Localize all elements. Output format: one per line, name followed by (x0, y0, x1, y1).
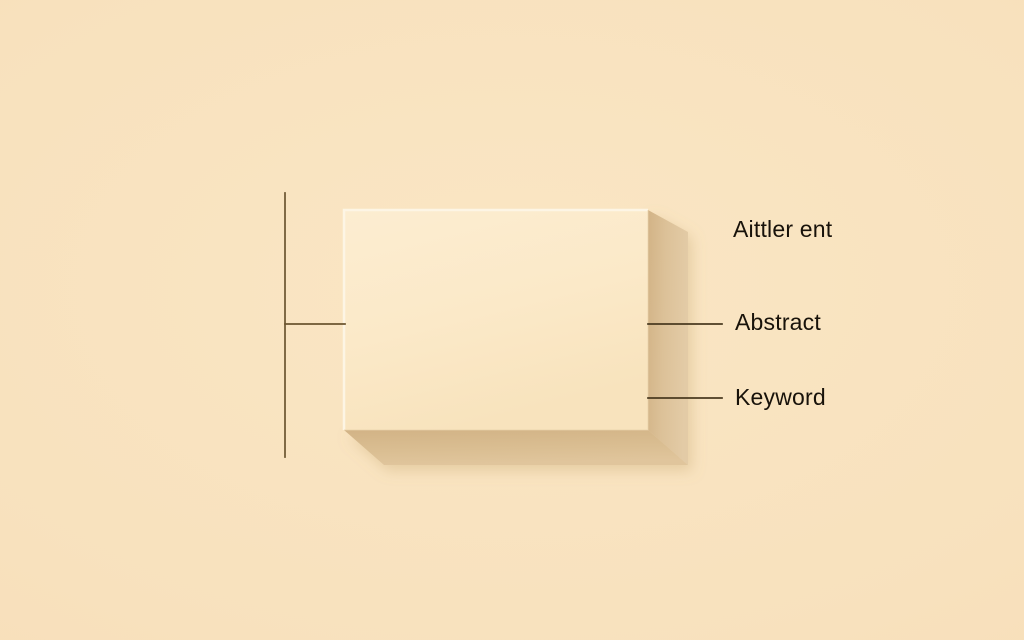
card-bottom-face (344, 430, 688, 465)
annotation-label-abstract: Abstract (735, 311, 821, 334)
extruded-card-figure (0, 0, 1024, 640)
annotation-label-keyword: Keyword (735, 386, 826, 409)
card-side-face (648, 210, 688, 465)
annotation-label-title: Aittler ent (733, 218, 832, 241)
axis-lines (285, 193, 345, 457)
diagram-canvas: Aittler ent Abstract Keyword (0, 0, 1024, 640)
card-front-face (344, 210, 648, 430)
